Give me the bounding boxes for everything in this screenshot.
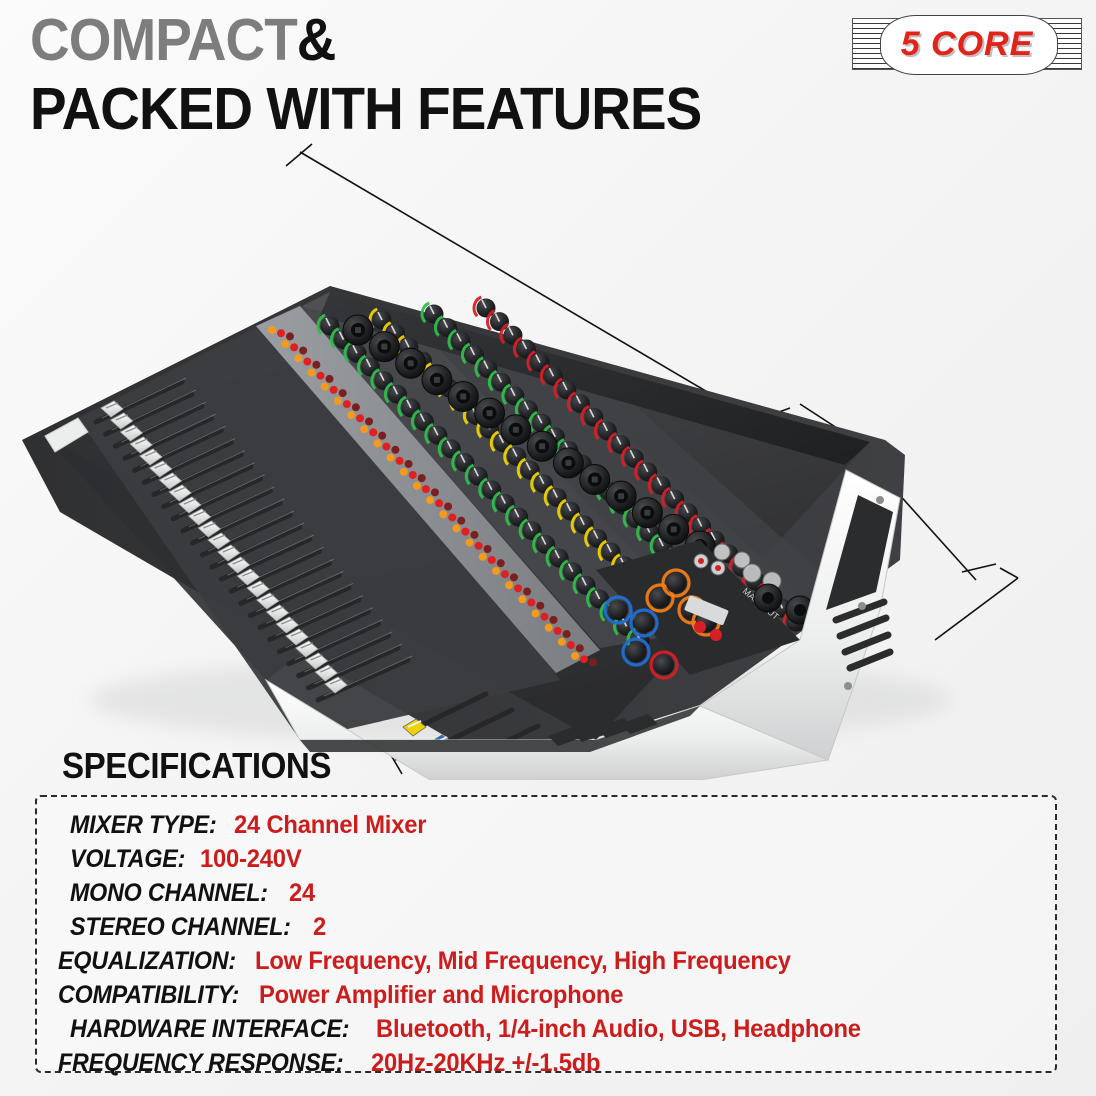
led-indicator xyxy=(290,343,298,351)
spec-label: VOLTAGE: xyxy=(70,842,185,876)
infographic-page: COMPACT& PACKED WITH FEATURES 5 CORE xyxy=(0,0,1096,1096)
spec-row: HARDWARE INTERFACE:Bluetooth, 1/4-inch A… xyxy=(58,1012,1058,1046)
led-indicator xyxy=(470,531,478,539)
led-indicator xyxy=(317,372,325,380)
led-indicator xyxy=(536,602,544,610)
spec-value: 100-240V xyxy=(200,842,301,876)
headline-ampersand: & xyxy=(297,7,336,73)
led-indicator xyxy=(312,361,320,369)
led-indicator xyxy=(479,553,487,561)
headline-block: COMPACT& PACKED WITH FEATURES xyxy=(30,8,850,140)
led-indicator xyxy=(484,545,492,553)
led-indicator xyxy=(531,609,539,617)
channel-knob xyxy=(517,339,536,358)
led-indicator xyxy=(505,581,513,589)
led-indicator xyxy=(435,499,443,507)
led-indicator xyxy=(501,570,509,578)
led-indicator xyxy=(576,644,584,652)
headline-line-1: COMPACT& xyxy=(30,8,793,72)
led-indicator xyxy=(382,443,390,451)
led-indicator xyxy=(422,485,430,493)
master-knob xyxy=(654,655,674,675)
spec-row: FREQUENCY RESPONSE:20Hz-20KHz +/-1.5db xyxy=(58,1046,1058,1080)
led-indicator xyxy=(356,414,364,422)
led-indicator xyxy=(413,482,421,490)
spec-label: HARDWARE INTERFACE: xyxy=(70,1012,349,1046)
led-indicator xyxy=(518,595,526,603)
spec-label: STEREO CHANNEL: xyxy=(70,910,291,944)
led-indicator xyxy=(360,425,368,433)
spec-row: VOLTAGE:100-240V xyxy=(58,842,1058,876)
led-indicator xyxy=(540,613,548,621)
led-indicator xyxy=(497,559,505,567)
spec-value: Low Frequency, Mid Frequency, High Frequ… xyxy=(255,944,791,978)
led-indicator xyxy=(545,624,553,632)
led-indicator xyxy=(308,369,316,377)
spec-row: STEREO CHANNEL:2 xyxy=(58,910,1058,944)
led-indicator xyxy=(580,655,588,663)
led-indicator xyxy=(369,428,377,436)
led-indicator xyxy=(396,457,404,465)
led-indicator xyxy=(268,326,276,334)
led-indicator xyxy=(400,468,408,476)
spec-value: Power Amplifier and Microphone xyxy=(259,978,623,1012)
led-indicator xyxy=(326,375,334,383)
led-indicator xyxy=(461,528,469,536)
led-indicator xyxy=(523,588,531,596)
product-image: MAIN OUT xyxy=(0,140,1096,780)
led-indicator xyxy=(330,386,338,394)
led-indicator xyxy=(334,397,342,405)
led-indicator xyxy=(514,584,522,592)
specifications-title: SPECIFICATIONS xyxy=(62,745,331,787)
spec-value: 20Hz-20KHz +/-1.5db xyxy=(371,1046,600,1080)
spec-row: EQUALIZATION:Low Frequency, Mid Frequenc… xyxy=(58,944,1058,978)
spec-label: EQUALIZATION: xyxy=(58,944,236,978)
led-indicator xyxy=(452,524,460,532)
led-indicator xyxy=(444,502,452,510)
spec-row: MIXER TYPE:24 Channel Mixer xyxy=(58,808,1058,842)
headline-line-2: PACKED WITH FEATURES xyxy=(30,78,793,140)
channel-knob xyxy=(496,494,515,513)
spec-label: MIXER TYPE: xyxy=(70,808,217,842)
mixer-illustration: MAIN OUT xyxy=(0,140,1096,780)
led-indicator xyxy=(347,411,355,419)
spec-label: COMPATIBILITY: xyxy=(58,978,239,1012)
logo-text: 5 CORE xyxy=(852,18,1082,70)
led-indicator xyxy=(492,567,500,575)
led-indicator xyxy=(418,474,426,482)
headline-word-compact: COMPACT xyxy=(30,7,297,73)
spec-value: Bluetooth, 1/4-inch Audio, USB, Headphon… xyxy=(376,1012,861,1046)
led-indicator xyxy=(563,630,571,638)
spec-label: FREQUENCY RESPONSE: xyxy=(58,1046,343,1080)
channel-knob xyxy=(478,359,497,378)
spec-value: 24 Channel Mixer xyxy=(234,808,426,842)
spec-row: MONO CHANNEL:24 xyxy=(58,876,1058,910)
master-knob xyxy=(634,613,654,633)
led-indicator xyxy=(299,347,307,355)
led-indicator xyxy=(352,403,360,411)
led-indicator xyxy=(303,358,311,366)
led-indicator xyxy=(391,446,399,454)
channel-knob xyxy=(530,353,549,372)
master-knob xyxy=(608,600,628,620)
channel-knob xyxy=(588,529,607,548)
spec-value: 2 xyxy=(313,910,326,944)
led-indicator xyxy=(558,638,566,646)
channel-knob xyxy=(465,345,484,364)
led-indicator xyxy=(365,417,373,425)
led-indicator xyxy=(286,332,294,340)
led-indicator xyxy=(378,432,386,440)
led-indicator xyxy=(294,354,302,362)
led-indicator xyxy=(488,556,496,564)
master-knob xyxy=(666,573,686,593)
led-indicator xyxy=(457,517,465,525)
led-indicator xyxy=(387,454,395,462)
led-indicator xyxy=(549,616,557,624)
led-indicator xyxy=(439,510,447,518)
led-indicator xyxy=(339,389,347,397)
led-indicator xyxy=(321,383,329,391)
master-knob xyxy=(626,642,646,662)
led-indicator xyxy=(466,539,474,547)
channel-knob xyxy=(536,535,555,554)
led-indicator xyxy=(431,488,439,496)
led-indicator xyxy=(589,658,597,666)
spec-row: COMPATIBILITY:Power Amplifier and Microp… xyxy=(58,978,1058,1012)
brand-logo: 5 CORE xyxy=(852,18,1082,70)
led-indicator xyxy=(567,641,575,649)
led-indicator xyxy=(510,573,518,581)
led-indicator xyxy=(343,400,351,408)
led-indicator xyxy=(373,439,381,447)
led-indicator xyxy=(448,513,456,521)
led-indicator xyxy=(281,340,289,348)
led-indicator xyxy=(409,471,417,479)
led-indicator xyxy=(554,627,562,635)
spec-value: 24 xyxy=(289,876,315,910)
led-indicator xyxy=(426,496,434,504)
led-indicator xyxy=(277,329,285,337)
led-indicator xyxy=(527,599,535,607)
led-indicator xyxy=(405,460,413,468)
led-indicator xyxy=(571,652,579,660)
spec-label: MONO CHANNEL: xyxy=(70,876,268,910)
specifications-list: MIXER TYPE:24 Channel MixerVOLTAGE:100-2… xyxy=(58,808,1058,1080)
led-indicator xyxy=(475,542,483,550)
channel-knob xyxy=(374,371,393,390)
